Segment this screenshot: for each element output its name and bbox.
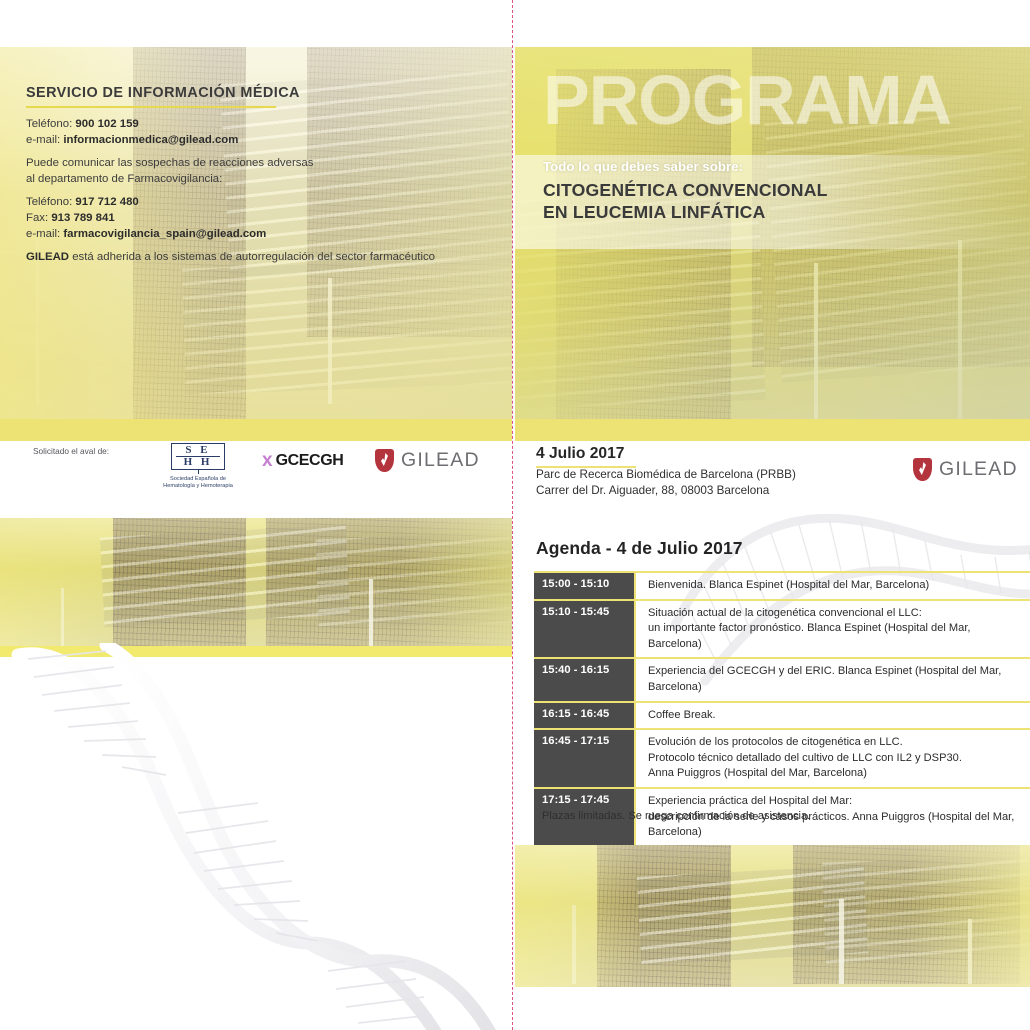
gilead-logo-backcover: GILEAD bbox=[375, 449, 480, 472]
gilead-wordmark: GILEAD bbox=[401, 449, 480, 472]
pv-email-value[interactable]: farmacovigilancia_spain@gilead.com bbox=[63, 228, 266, 240]
gcecgh-wordmark: GCECGH bbox=[276, 452, 344, 470]
pv-email-label: e-mail: bbox=[26, 228, 63, 240]
inner-right-panel: Agenda - 4 de Julio 2017 15:00 - 15:10Bi… bbox=[515, 513, 1030, 1030]
regulation-disclaimer: GILEAD está adherida a los sistemas de a… bbox=[26, 250, 456, 266]
agenda-title: Agenda - 4 de Julio 2017 bbox=[536, 538, 743, 559]
agenda-row-line: Experiencia del GCECGH y del ERIC. Blanc… bbox=[648, 664, 1026, 695]
disclaimer-brand: GILEAD bbox=[26, 251, 69, 263]
agenda-row-description: Situación actual de la citogenética conv… bbox=[636, 601, 1030, 658]
pv-intro-line-2: al departamento de Farmacovigilancia: bbox=[26, 172, 456, 188]
title-underline bbox=[26, 106, 276, 108]
sehh-subtitle: Sociedad Española de Hematología y Hemot… bbox=[152, 476, 244, 490]
pv-phone-label: Teléfono: bbox=[26, 196, 75, 208]
pv-phone-line: Teléfono: 917 712 480 bbox=[26, 195, 456, 211]
agenda-row-time: 15:00 - 15:10 bbox=[534, 573, 636, 599]
prbb-building-photo-inner-left bbox=[0, 518, 512, 646]
gcecgh-logo: x GCECGH bbox=[262, 451, 343, 470]
dna-helix-graphic-left bbox=[10, 643, 510, 1030]
agenda-row-time: 16:15 - 16:45 bbox=[534, 703, 636, 729]
phone-label: Teléfono: bbox=[26, 118, 75, 130]
pv-fax-value: 913 789 841 bbox=[51, 212, 114, 224]
inner-left-panel bbox=[0, 513, 512, 1030]
agenda-row-line: Evolución de los protocolos de citogenét… bbox=[648, 735, 1026, 751]
agenda-row: 15:10 - 15:45Situación actual de la cito… bbox=[534, 601, 1030, 660]
brochure-page: SERVICIO DE INFORMACIÓN MÉDICA Teléfono:… bbox=[0, 0, 1030, 1030]
agenda-row-line: un importante factor pronóstico. Blanca … bbox=[648, 621, 1026, 652]
agenda-row: 15:00 - 15:10Bienvenida. Blanca Espinet … bbox=[534, 571, 1030, 601]
cover-kicker: Todo lo que debes saber sobre: bbox=[543, 159, 743, 174]
sehh-monogram: S E H H bbox=[171, 443, 225, 470]
agenda-row: 15:40 - 16:15Experiencia del GCECGH y de… bbox=[534, 659, 1030, 702]
accent-band-front-cover bbox=[515, 419, 1030, 441]
agenda-row-line: Situación actual de la citogenética conv… bbox=[648, 606, 1026, 622]
programa-watermark: PROGRAMA bbox=[543, 65, 1030, 135]
agenda-note: Plazas limitadas. Se ruega confirmación … bbox=[542, 810, 810, 822]
venue-address-line-1: Parc de Recerca Biomédica de Barcelona (… bbox=[536, 467, 796, 483]
front-cover-panel: PROGRAMA Todo lo que debes saber sobre: … bbox=[515, 47, 1030, 419]
pv-phone-value: 917 712 480 bbox=[75, 196, 138, 208]
cover-title-line-1: CITOGENÉTICA CONVENCIONAL bbox=[543, 180, 828, 202]
agenda-row-description: Coffee Break. bbox=[636, 703, 1030, 729]
event-date: 4 Julio 2017 bbox=[536, 445, 624, 463]
gilead-wordmark: GILEAD bbox=[939, 458, 1018, 481]
sehh-row-1: S E bbox=[176, 445, 220, 456]
pv-intro-line-1: Puede comunicar las sospechas de reaccio… bbox=[26, 156, 456, 172]
agenda-row-description: Evolución de los protocolos de citogenét… bbox=[636, 730, 1030, 787]
agenda-row-line: Experiencia práctica del Hospital del Ma… bbox=[648, 794, 1026, 810]
phone-value: 900 102 159 bbox=[75, 118, 138, 130]
agenda-row-line: Anna Puiggros (Hospital del Mar, Barcelo… bbox=[648, 766, 1026, 782]
agenda-row: 16:45 - 17:15Evolución de los protocolos… bbox=[534, 730, 1030, 789]
accent-band-back-cover bbox=[0, 419, 512, 441]
venue-address-line-2: Carrer del Dr. Aiguader, 88, 08003 Barce… bbox=[536, 483, 796, 499]
phone-line: Teléfono: 900 102 159 bbox=[26, 117, 456, 133]
agenda-row: 16:15 - 16:45Coffee Break. bbox=[534, 703, 1030, 731]
sehh-subtitle-line-2: Hematología y Hemoterapia bbox=[152, 483, 244, 490]
sehh-tick bbox=[198, 470, 199, 474]
agenda-row-line: Bienvenida. Blanca Espinet (Hospital del… bbox=[648, 578, 1026, 594]
agenda-row-line: Coffee Break. bbox=[648, 708, 1026, 724]
cover-title-line-2: EN LEUCEMIA LINFÁTICA bbox=[543, 202, 828, 224]
email-value[interactable]: informacionmedica@gilead.com bbox=[63, 134, 238, 146]
medical-information-block: SERVICIO DE INFORMACIÓN MÉDICA Teléfono:… bbox=[26, 85, 456, 266]
email-label: e-mail: bbox=[26, 134, 63, 146]
agenda-row-time: 15:10 - 15:45 bbox=[534, 601, 636, 658]
gilead-logo-frontcover: GILEAD bbox=[913, 458, 1018, 481]
venue-strip: 4 Julio 2017 Parc de Recerca Biomédica d… bbox=[515, 441, 1030, 505]
sponsors-strip: Solicitado el aval de: S E H H Sociedad … bbox=[0, 441, 512, 505]
agenda-row-time: 16:45 - 17:15 bbox=[534, 730, 636, 787]
gilead-shield-icon bbox=[375, 449, 394, 472]
pv-fax-label: Fax: bbox=[26, 212, 51, 224]
sehh-row-2: H H bbox=[176, 456, 220, 468]
prbb-building-photo-inner-right bbox=[515, 845, 1030, 987]
disclaimer-text: está adherida a los sistemas de autorreg… bbox=[69, 251, 435, 263]
cover-title: CITOGENÉTICA CONVENCIONAL EN LEUCEMIA LI… bbox=[543, 180, 828, 223]
gilead-shield-icon bbox=[913, 458, 932, 481]
sehh-subtitle-line-1: Sociedad Española de bbox=[152, 476, 244, 483]
agenda-row-description: Bienvenida. Blanca Espinet (Hospital del… bbox=[636, 573, 1030, 599]
agenda-row-line: Protocolo técnico detallado del cultivo … bbox=[648, 751, 1026, 767]
email-line: e-mail: informacionmedica@gilead.com bbox=[26, 133, 456, 149]
sehh-logo: S E H H Sociedad Española de Hematología… bbox=[152, 443, 244, 490]
chromosome-icon: x bbox=[262, 451, 273, 470]
agenda-row-description: Experiencia del GCECGH y del ERIC. Blanc… bbox=[636, 659, 1030, 700]
pv-fax-line: Fax: 913 789 841 bbox=[26, 211, 456, 227]
venue-address: Parc de Recerca Biomédica de Barcelona (… bbox=[536, 467, 796, 498]
back-cover-panel: SERVICIO DE INFORMACIÓN MÉDICA Teléfono:… bbox=[0, 47, 512, 419]
agenda-table: 15:00 - 15:10Bienvenida. Blanca Espinet … bbox=[534, 571, 1030, 875]
pv-email-line: e-mail: farmacovigilancia_spain@gilead.c… bbox=[26, 227, 456, 243]
fold-line bbox=[512, 0, 513, 1030]
aval-label: Solicitado el aval de: bbox=[33, 446, 109, 456]
agenda-row-time: 15:40 - 16:15 bbox=[534, 659, 636, 700]
medical-info-title: SERVICIO DE INFORMACIÓN MÉDICA bbox=[26, 85, 456, 101]
